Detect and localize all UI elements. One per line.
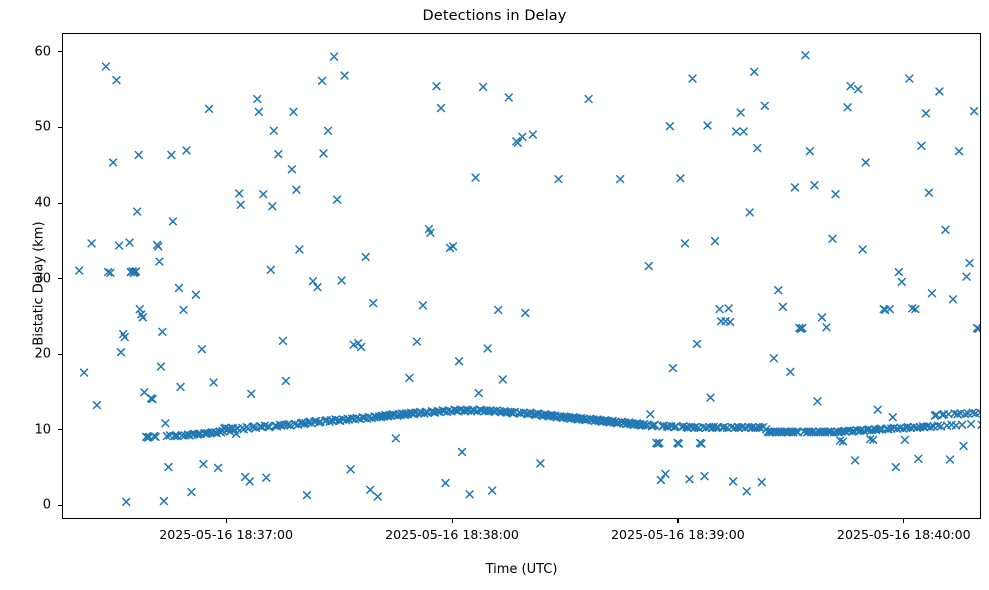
scatter-marker-path (76, 52, 981, 506)
y-tick-label: 30 (7, 271, 51, 286)
matplotlib-figure: Detections in Delay Bistatic Delay (km) … (0, 0, 989, 590)
x-tick-label: 2025-05-16 18:37:00 (159, 527, 293, 542)
x-tick-label: 2025-05-16 18:38:00 (385, 527, 519, 542)
plot-area (62, 33, 981, 519)
x-tick-mark (903, 519, 904, 523)
x-tick-label: 2025-05-16 18:40:00 (837, 527, 971, 542)
page-title: Detections in Delay (0, 8, 989, 24)
y-tick-label: 10 (7, 422, 51, 437)
y-tick-label: 40 (7, 196, 51, 211)
y-tick-label: 20 (7, 347, 51, 362)
scatter-series-detections (76, 52, 981, 506)
x-tick-mark (452, 519, 453, 523)
y-tick-label: 0 (7, 498, 51, 513)
x-axis-label: Time (UTC) (62, 562, 981, 577)
x-tick-label: 2025-05-16 18:39:00 (611, 527, 745, 542)
y-tick-label: 50 (7, 120, 51, 135)
y-tick-label: 60 (7, 44, 51, 59)
x-tick-mark (677, 519, 678, 523)
scatter-points-layer (63, 34, 981, 519)
x-tick-mark (226, 519, 227, 523)
